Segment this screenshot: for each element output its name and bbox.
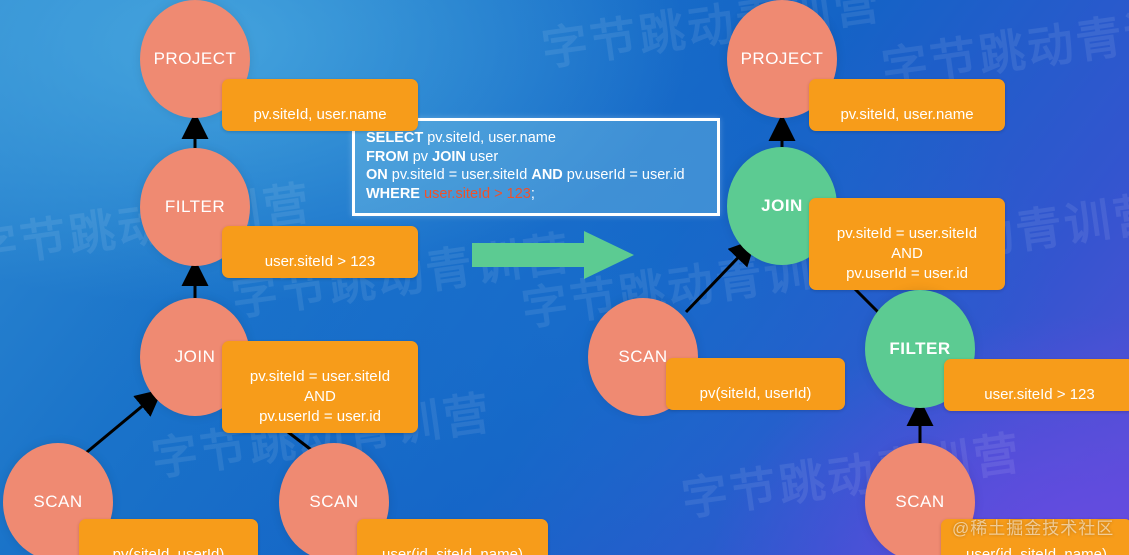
sql-keyword-join: JOIN [432, 149, 466, 165]
right-node-scan-pv-label: SCAN [618, 347, 667, 367]
sql-join-table: user [466, 149, 498, 165]
sql-keyword-on: ON [366, 167, 388, 183]
right-label-join-text: pv.siteId = user.siteId AND pv.userId = … [837, 225, 977, 282]
left-label-scan-pv: pv(siteId, userId) [79, 519, 258, 555]
sql-keyword-from: FROM [366, 149, 409, 165]
left-node-filter-label: FILTER [165, 197, 225, 217]
sql-keyword-and: AND [531, 167, 562, 183]
optimization-arrow [472, 231, 634, 279]
sql-where-predicate: user.siteId > 123 [420, 186, 531, 202]
right-label-project-text: pv.siteId, user.name [840, 106, 973, 123]
right-label-scan-pv-text: pv(siteId, userId) [700, 385, 812, 402]
right-label-join: pv.siteId = user.siteId AND pv.userId = … [809, 198, 1005, 290]
right-label-scan-pv: pv(siteId, userId) [666, 358, 845, 410]
right-label-scan-user: user(id, siteId, name) [941, 519, 1129, 555]
sql-on-cond1: pv.siteId = user.siteId [388, 167, 532, 183]
left-node-scan-user-label: SCAN [309, 492, 358, 512]
left-label-project-text: pv.siteId, user.name [253, 106, 386, 123]
sql-query-box: SELECT pv.siteId, user.name FROM pv JOIN… [352, 118, 720, 216]
sql-keyword-select: SELECT [366, 130, 423, 146]
right-label-project: pv.siteId, user.name [809, 79, 1005, 131]
left-label-scan-pv-text: pv(siteId, userId) [113, 546, 225, 555]
left-label-filter: user.siteId > 123 [222, 226, 418, 278]
left-label-scan-user-text: user(id, siteId, name) [382, 546, 523, 555]
sql-keyword-where: WHERE [366, 186, 420, 202]
left-label-scan-user: user(id, siteId, name) [357, 519, 548, 555]
right-node-scan-user-label: SCAN [895, 492, 944, 512]
sql-select-columns: pv.siteId, user.name [423, 130, 556, 146]
right-node-project-label: PROJECT [741, 49, 824, 69]
sql-line-select: SELECT pv.siteId, user.name [366, 129, 706, 148]
left-node-project-label: PROJECT [154, 49, 237, 69]
sql-on-cond2: pv.userId = user.id [563, 167, 685, 183]
left-label-filter-text: user.siteId > 123 [265, 253, 376, 270]
sql-line-on: ON pv.siteId = user.siteId AND pv.userId… [366, 166, 706, 185]
sql-semicolon: ; [531, 186, 535, 202]
left-label-join: pv.siteId = user.siteId AND pv.userId = … [222, 341, 418, 433]
right-label-filter: user.siteId > 123 [944, 359, 1129, 411]
right-label-scan-user-text: user(id, siteId, name) [966, 546, 1107, 555]
right-node-filter-label: FILTER [889, 339, 950, 359]
left-node-join-label: JOIN [175, 347, 216, 367]
left-label-join-text: pv.siteId = user.siteId AND pv.userId = … [250, 368, 390, 425]
right-node-join-label: JOIN [761, 196, 803, 216]
sql-line-from: FROM pv JOIN user [366, 148, 706, 167]
left-node-scan-pv-label: SCAN [33, 492, 82, 512]
diagram-canvas: 字节跳动青训营 字节跳动青训营 字节跳动青训营 字节跳动青训营 字节跳动青训营 … [0, 0, 1129, 555]
left-label-project: pv.siteId, user.name [222, 79, 418, 131]
sql-from-table: pv [409, 149, 432, 165]
sql-line-where: WHERE user.siteId > 123; [366, 185, 706, 204]
right-label-filter-text: user.siteId > 123 [984, 386, 1095, 403]
